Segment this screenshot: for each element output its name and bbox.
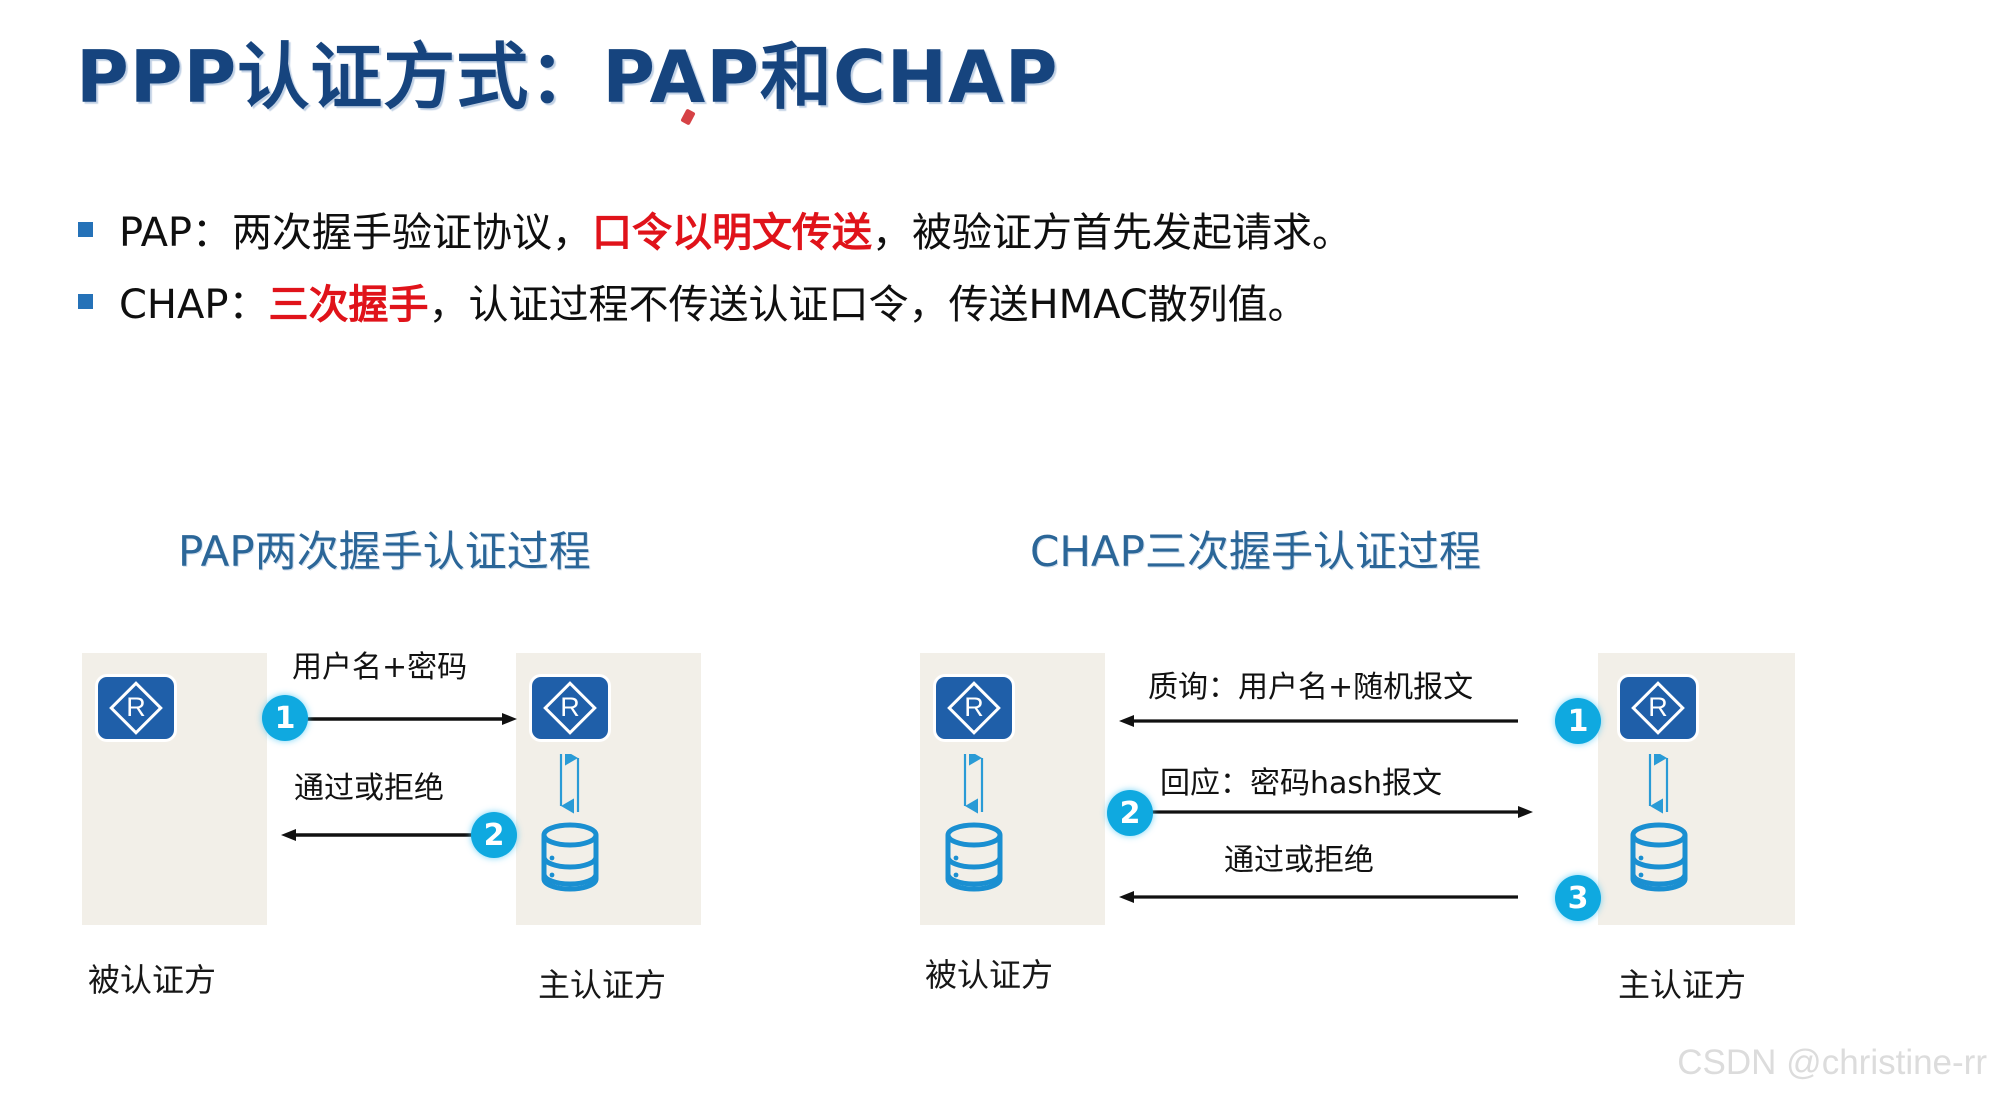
bullet-text-chap: CHAP：三次握手，认证过程不传送认证口令，传送HMAC散列值。 [119,272,1308,330]
router-letter: R [98,677,174,739]
chap-message-1-arrow [1118,714,1518,728]
pap-step-badge-1: 1 [262,695,308,741]
csdn-watermark: CSDN @christine-rr [1677,1043,1987,1083]
chap-message-2-label: 回应：密码hash报文 [1160,758,1442,802]
pap-left-role-label: 被认证方 [88,955,216,1001]
database-icon [943,822,1005,892]
chap-message-3-label: 通过或拒绝 [1224,835,1374,879]
pap-message-2-arrow [280,828,502,842]
router-database-link-arrows [957,754,991,814]
chap-diagram-heading: CHAP三次握手认证过程 [1030,518,1481,579]
pap-right-role-label: 主认证方 [538,960,666,1006]
router-icon: R [1620,677,1696,739]
highlight-plaintext-password: 口令以明文传送 [592,210,872,256]
router-letter: R [1620,677,1696,739]
router-letter: R [532,677,608,739]
database-icon [1628,822,1690,892]
highlight-three-way-handshake: 三次握手 [269,282,429,328]
pap-diagram-heading: PAP两次握手认证过程 [178,518,591,579]
router-icon: R [532,677,608,739]
database-icon [539,822,601,892]
chap-step-badge-1: 1 [1555,698,1601,744]
chap-message-1-label: 质询：用户名+随机报文 [1148,662,1473,706]
router-icon: R [936,677,1012,739]
bullet-text-pap: PAP：两次握手验证协议，口令以明文传送，被验证方首先发起请求。 [119,200,1352,258]
square-bullet-icon [78,294,93,309]
router-database-link-arrows [1642,754,1676,814]
router-letter: R [936,677,1012,739]
router-database-link-arrows [553,754,587,814]
bullet-item-pap: PAP：两次握手验证协议，口令以明文传送，被验证方首先发起请求。 [78,200,1352,258]
chap-message-2-arrow [1134,805,1534,819]
chap-message-3-arrow [1118,890,1518,904]
page-title: PPP认证方式：PAP和CHAP [76,18,1059,123]
pap-message-1-arrow [296,712,518,726]
chap-right-role-label: 主认证方 [1618,960,1746,1006]
bullet-item-chap: CHAP：三次握手，认证过程不传送认证口令，传送HMAC散列值。 [78,272,1308,330]
pap-step-badge-2: 2 [471,812,517,858]
pap-message-1-label: 用户名+密码 [292,642,467,686]
chap-left-role-label: 被认证方 [925,950,1053,996]
square-bullet-icon [78,222,93,237]
pap-message-2-label: 通过或拒绝 [294,763,444,807]
chap-step-badge-3: 3 [1555,875,1601,921]
chap-step-badge-2: 2 [1107,790,1153,836]
router-icon: R [98,677,174,739]
